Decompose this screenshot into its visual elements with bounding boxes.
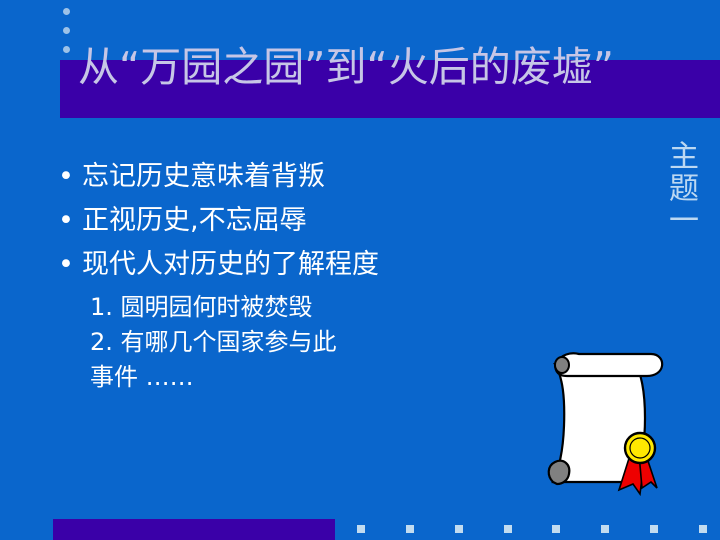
bullet-text: 现代人对历史的了解程度: [82, 246, 492, 284]
slide-title: 从“万园之园”到“火后的废墟”: [78, 38, 718, 96]
decor-square-icon: [552, 525, 560, 533]
decor-dot-icon: [63, 46, 70, 53]
footer-bar: [53, 519, 335, 540]
bullet-dot-icon: •: [52, 246, 82, 284]
decor-dot-icon: [63, 27, 70, 34]
list-item: • 现代人对历史的了解程度: [52, 246, 492, 284]
scroll-certificate-icon: [545, 348, 670, 496]
sub-list-item: 1. 圆明园何时被焚毁: [90, 290, 492, 325]
bullet-dot-icon: •: [52, 202, 82, 240]
presentation-slide: 从“万园之园”到“火后的废墟” • 忘记历史意味着背叛 • 正视历史,不忘屈辱 …: [0, 0, 720, 540]
decor-square-icon: [455, 525, 463, 533]
decor-square-icon: [504, 525, 512, 533]
bullet-text: 正视历史,不忘屈辱: [82, 202, 492, 240]
decor-square-icon: [357, 525, 365, 533]
decor-square-icon: [406, 525, 414, 533]
sub-list-item: 2. 有哪几个国家参与此: [90, 325, 492, 360]
sub-list-item: 事件 ……: [90, 360, 492, 395]
decor-square-icon: [601, 525, 609, 533]
numbered-sub-list: 1. 圆明园何时被焚毁 2. 有哪几个国家参与此 事件 ……: [52, 290, 492, 395]
bullet-dot-icon: •: [52, 158, 82, 196]
decor-square-icon: [699, 525, 707, 533]
decor-square-icon: [650, 525, 658, 533]
award-seal-icon: [625, 433, 655, 463]
theme-label: 主题一: [662, 140, 698, 236]
list-item: • 正视历史,不忘屈辱: [52, 202, 492, 240]
bullet-text: 忘记历史意味着背叛: [82, 158, 492, 196]
decor-dot-icon: [63, 8, 70, 15]
bullet-list: • 忘记历史意味着背叛 • 正视历史,不忘屈辱 • 现代人对历史的了解程度 1.…: [52, 158, 492, 395]
list-item: • 忘记历史意味着背叛: [52, 158, 492, 196]
